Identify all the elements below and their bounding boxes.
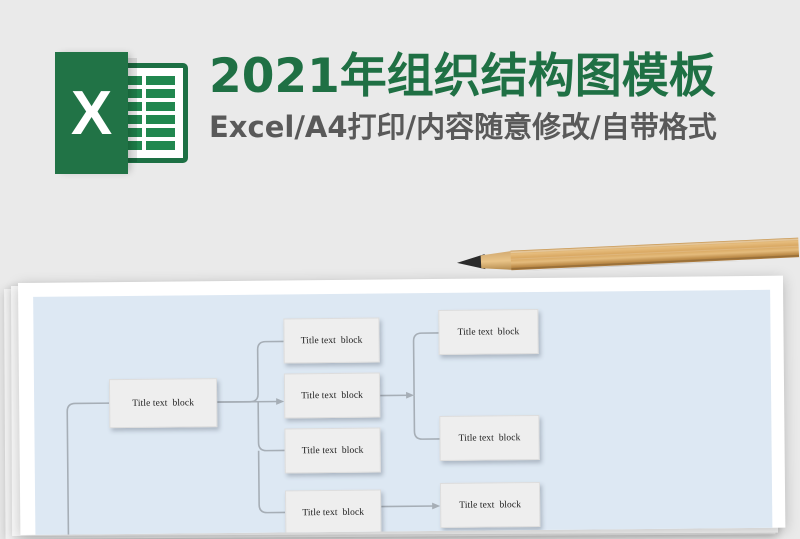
org-node-label: Title text block: [458, 327, 520, 338]
banner-subtitle: Excel/A4打印/内容随意修改/自带格式: [209, 106, 717, 148]
org-chart-nodes: Title text block Title text block Title …: [33, 290, 772, 535]
pencil-tip: [457, 254, 486, 270]
org-node-label: Title text block: [301, 335, 363, 346]
org-chart-canvas: Title text block Title text block Title …: [33, 290, 772, 535]
header-banner: X 2021年组织结构图模板 Excel/A4打印/内容随意修改/自带格式: [0, 0, 800, 240]
org-node-c4[interactable]: Title text block: [285, 490, 381, 535]
excel-logo: X: [55, 52, 191, 174]
org-node-label: Title text block: [301, 390, 363, 401]
excel-grid-cell: [146, 128, 175, 137]
excel-grid-cell: [146, 115, 175, 124]
excel-grid-cell: [146, 76, 175, 85]
org-node-label: Title text block: [302, 445, 364, 456]
excel-grid-cell: [146, 102, 175, 111]
org-node-c1[interactable]: Title text block: [283, 318, 379, 364]
org-node-label: Title text block: [302, 507, 364, 518]
org-node-label: Title text block: [132, 398, 194, 409]
excel-logo-letter: X: [55, 52, 128, 174]
org-node-label: Title text block: [459, 433, 521, 444]
paper-sheet: Title text block Title text block Title …: [18, 276, 785, 535]
org-node-g1[interactable]: Title text block: [438, 309, 538, 355]
excel-grid-cell: [146, 89, 175, 98]
org-node-g2[interactable]: Title text block: [439, 415, 539, 461]
org-node-root[interactable]: Title text block: [109, 378, 217, 428]
pencil-body: [510, 238, 799, 271]
org-node-c2[interactable]: Title text block: [284, 373, 380, 419]
excel-grid-cell: [146, 141, 175, 150]
org-node-label: Title text block: [459, 500, 521, 511]
banner-content: X 2021年组织结构图模板 Excel/A4打印/内容随意修改/自带格式: [55, 48, 717, 174]
banner-text-group: 2021年组织结构图模板 Excel/A4打印/内容随意修改/自带格式: [209, 48, 717, 148]
banner-title: 2021年组织结构图模板: [209, 48, 717, 106]
org-node-g3[interactable]: Title text block: [440, 482, 540, 528]
org-node-c3[interactable]: Title text block: [284, 428, 380, 474]
pencil-icon: [455, 236, 800, 274]
